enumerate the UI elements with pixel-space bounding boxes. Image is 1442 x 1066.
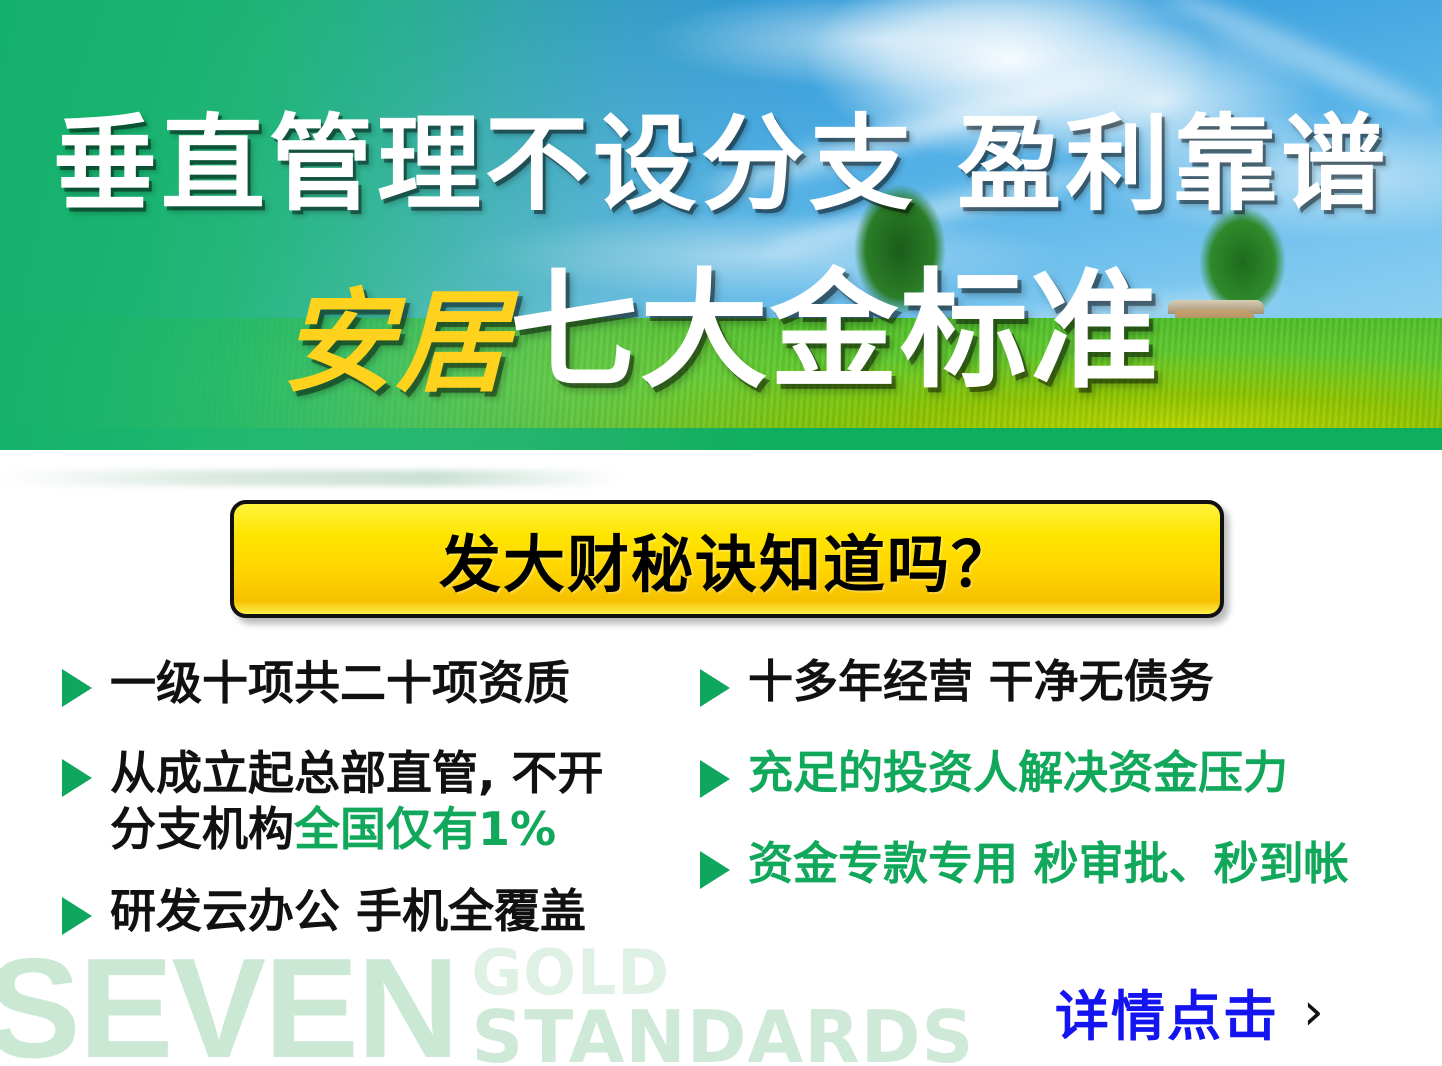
triangle-bullet-icon <box>700 851 730 889</box>
list-item: 研发云办公 手机全覆盖 <box>62 883 702 939</box>
bullet-label: 研发云办公 手机全覆盖 <box>110 883 586 939</box>
advertisement-banner: 垂直管理不设分支 盈利靠谱 安居七大金标准 发大财秘诀知道吗？ 一级十项共二十项… <box>0 0 1442 1066</box>
list-item: 十多年经营 干净无债务 <box>700 655 1420 710</box>
triangle-bullet-icon <box>700 760 730 798</box>
bullet-label: 一级十项共二十项资质 <box>110 655 570 711</box>
cta-label: 详情点击 <box>1055 972 1279 1051</box>
bullets-left-column: 一级十项共二十项资质 从成立起总部直管, 不开 分支机构全国仅有1% 研发云办公… <box>62 655 702 973</box>
hero-subheadline: 安居七大金标准 <box>0 268 1442 399</box>
hero-sub-prefix: 安居 <box>282 277 510 408</box>
triangle-bullet-icon <box>62 897 92 935</box>
bullet-line-2-plain: 分支机构 <box>110 802 294 856</box>
bullet-label: 十多年经营 干净无债务 <box>748 655 1214 710</box>
list-item: 一级十项共二十项资质 <box>62 655 702 711</box>
hero-drop-shadow <box>0 470 620 486</box>
triangle-bullet-icon <box>700 669 730 707</box>
hero-section: 垂直管理不设分支 盈利靠谱 安居七大金标准 <box>0 0 1442 450</box>
triangle-bullet-icon <box>62 669 92 707</box>
bullet-line-1: 从成立起总部直管, 不开 <box>110 746 604 800</box>
hero-headline: 垂直管理不设分支 盈利靠谱 <box>0 112 1442 216</box>
yellow-question-banner[interactable]: 发大财秘诀知道吗？ <box>230 500 1224 618</box>
bullets-right-column: 十多年经营 干净无债务 充足的投资人解决资金压力 资金专款专用 秒审批、秒到帐 <box>700 655 1420 928</box>
list-item: 充足的投资人解决资金压力 <box>700 746 1420 801</box>
list-item: 资金专款专用 秒审批、秒到帐 <box>700 837 1420 892</box>
hero-sub-main: 七大金标准 <box>510 257 1160 406</box>
bullet-label-multiline: 从成立起总部直管, 不开 分支机构全国仅有1% <box>110 745 604 857</box>
triangle-bullet-icon <box>62 759 92 797</box>
feature-bullets: 一级十项共二十项资质 从成立起总部直管, 不开 分支机构全国仅有1% 研发云办公… <box>0 655 1442 1015</box>
chevron-right-icon: › <box>1303 986 1324 1038</box>
yellow-banner-label: 发大财秘诀知道吗？ <box>439 514 1015 604</box>
details-cta-link[interactable]: 详情点击 › <box>1055 972 1324 1051</box>
bullet-label: 资金专款专用 秒审批、秒到帐 <box>748 837 1349 892</box>
bullet-label: 充足的投资人解决资金压力 <box>748 746 1288 801</box>
list-item: 从成立起总部直管, 不开 分支机构全国仅有1% <box>62 745 702 857</box>
bullet-line-2-highlight: 全国仅有1% <box>294 802 556 856</box>
